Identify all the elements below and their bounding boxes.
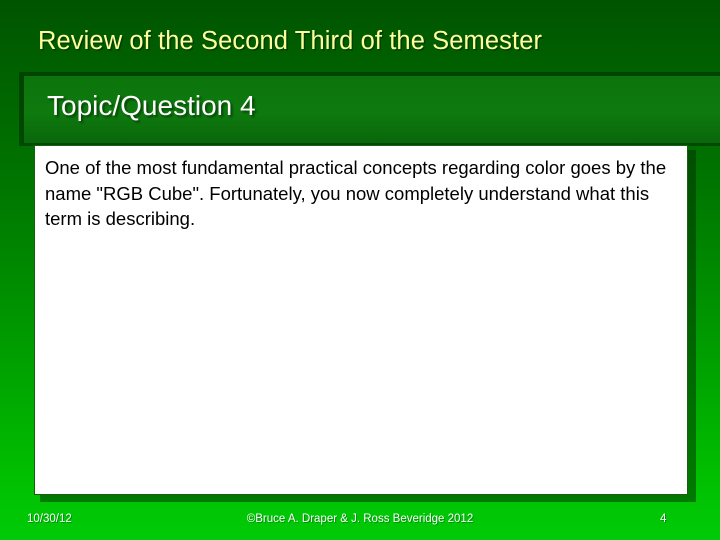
- slide-canvas: Review of the Second Third of the Semest…: [0, 0, 720, 540]
- footer-copyright: ©Bruce A. Draper & J. Ross Beveridge 201…: [0, 512, 720, 526]
- footer-page-number: 4: [660, 512, 666, 526]
- content-box: One of the most fundamental practical co…: [34, 145, 688, 495]
- topic-heading: Topic/Question 4: [47, 88, 256, 124]
- slide-title: Review of the Second Third of the Semest…: [38, 26, 678, 56]
- content-body-text: One of the most fundamental practical co…: [45, 155, 673, 232]
